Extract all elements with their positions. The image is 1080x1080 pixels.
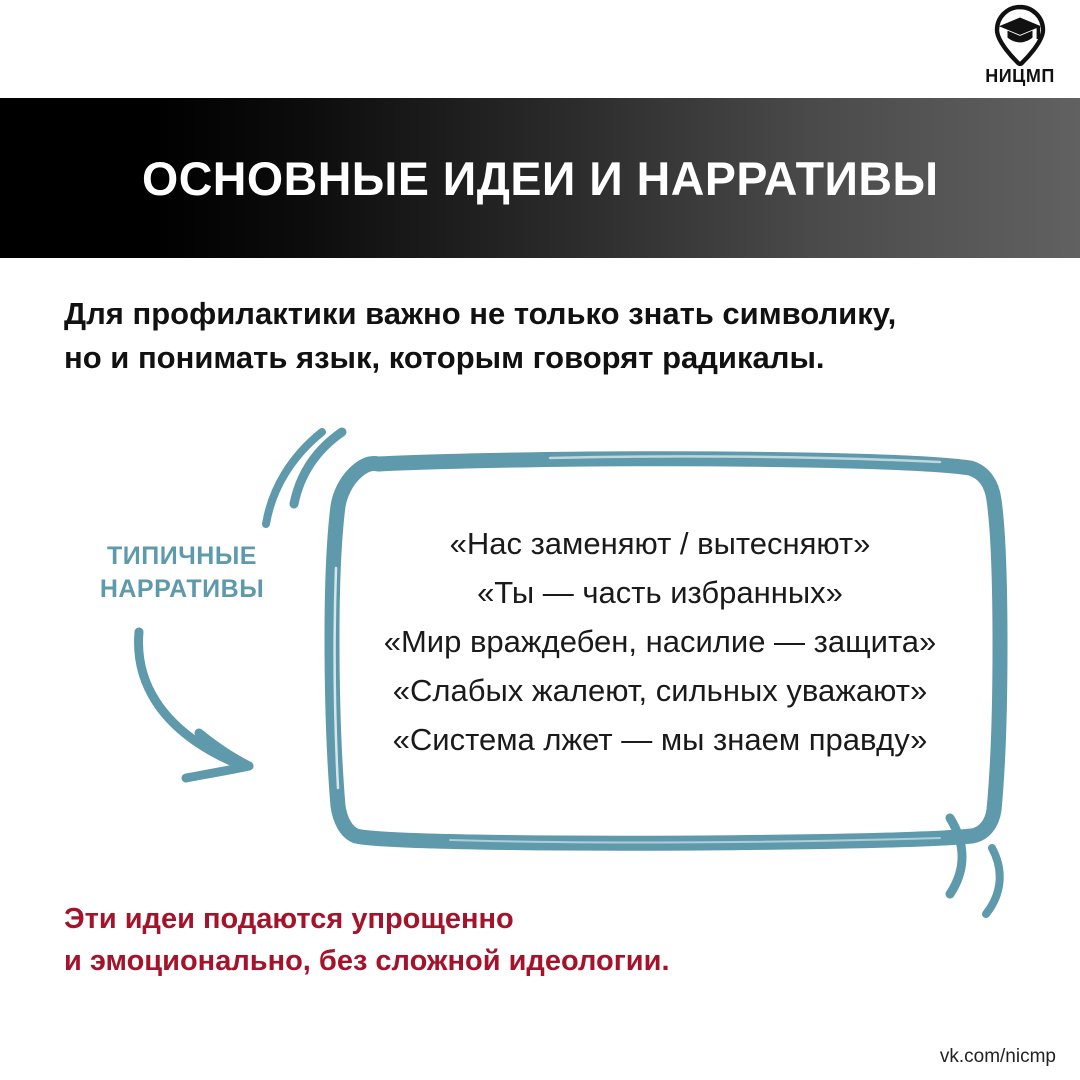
intro-line-2: но и понимать язык, которым говорят ради… — [64, 336, 1004, 380]
page-title: ОСНОВНЫЕ ИДЕИ И НАРРАТИВЫ — [142, 151, 939, 206]
list-item: «Мир враждебен, насилие — защита» — [330, 618, 990, 667]
header-banner: ОСНОВНЫЕ ИДЕИ И НАРРАТИВЫ — [0, 98, 1080, 258]
intro-paragraph: Для профилактики важно не только знать с… — [64, 292, 1004, 380]
conclusion-line-2: и эмоционально, без сложной идеологии. — [64, 940, 964, 982]
footer-link[interactable]: vk.com/nicmp — [940, 1046, 1056, 1068]
logo-wordmark: НИЦМП — [985, 67, 1055, 85]
list-item: «Нас заменяют / вытесняют» — [330, 520, 990, 569]
conclusion-text: Эти идеи подаются упрощенно и эмоциональ… — [64, 898, 964, 982]
intro-line-1: Для профилактики важно не только знать с… — [64, 292, 1004, 336]
infographic-page: НИЦМП ОСНОВНЫЕ ИДЕИ И НАРРАТИВЫ Для проф… — [0, 0, 1080, 1080]
list-item: «Система лжет — мы знаем правду» — [330, 716, 990, 765]
graduation-cap-map-pin-logo-icon — [988, 4, 1052, 66]
conclusion-line-1: Эти идеи подаются упрощенно — [64, 898, 964, 940]
narratives-list: «Нас заменяют / вытесняют» «Ты — часть и… — [330, 520, 990, 765]
list-item: «Слабых жалеют, сильных уважают» — [330, 667, 990, 716]
list-item: «Ты — часть избранных» — [330, 569, 990, 618]
brand-logo: НИЦМП — [972, 4, 1068, 96]
